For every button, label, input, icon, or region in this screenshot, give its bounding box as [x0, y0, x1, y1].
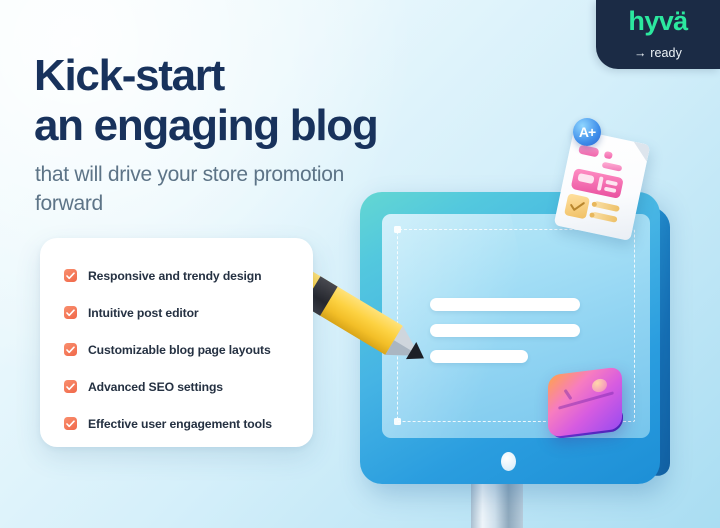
feature-label: Customizable blog page layouts	[88, 343, 271, 357]
feature-list-card: Responsive and trendy design Intuitive p…	[40, 238, 313, 447]
selection-handle	[394, 418, 401, 425]
list-item: Responsive and trendy design	[64, 259, 313, 292]
content-placeholder-bar	[430, 324, 580, 337]
a-plus-badge-icon: A+	[573, 118, 601, 146]
page-subtitle: that will drive your store promotion for…	[35, 161, 365, 219]
hyva-ready-badge: hyvä → ready	[596, 0, 720, 69]
image-icon	[548, 371, 626, 445]
monitor-stand-icon	[471, 478, 523, 528]
checkmark-icon	[64, 417, 77, 430]
list-item: Customizable blog page layouts	[64, 333, 313, 366]
promo-banner: hyvä → ready Kick-start an engaging blog…	[0, 0, 720, 528]
document-fold-corner	[630, 142, 650, 162]
doc-check-icon	[564, 193, 590, 219]
checkmark-icon	[64, 269, 77, 282]
doc-panel-detail	[577, 173, 594, 184]
page-title: Kick-start an engaging blog	[34, 51, 504, 150]
list-item: Intuitive post editor	[64, 296, 313, 329]
hyva-ready-tagline: → ready	[596, 46, 720, 60]
list-item: Effective user engagement tools	[64, 407, 313, 440]
checkmark-icon	[64, 343, 77, 356]
feature-label: Intuitive post editor	[88, 306, 199, 320]
headline-line-2: an engaging blog	[34, 101, 504, 150]
doc-gold-line	[591, 212, 618, 223]
doc-panel-detail	[597, 176, 604, 191]
doc-panel-detail	[605, 180, 618, 186]
doc-pink-block	[604, 151, 613, 160]
content-placeholder-bar	[430, 350, 528, 363]
doc-pink-panel	[571, 168, 624, 199]
feature-list: Responsive and trendy design Intuitive p…	[40, 238, 313, 440]
feature-label: Advanced SEO settings	[88, 380, 223, 394]
headline-line-1: Kick-start	[34, 51, 224, 100]
doc-gold-line	[593, 201, 620, 212]
doc-pink-block	[578, 145, 599, 158]
selection-handle	[394, 226, 401, 233]
feature-label: Effective user engagement tools	[88, 417, 272, 431]
content-placeholder-bar	[430, 298, 580, 311]
doc-pink-block	[602, 162, 623, 172]
doc-panel-detail	[604, 187, 617, 193]
list-item: Advanced SEO settings	[64, 370, 313, 403]
monitor-indicator-light	[501, 452, 516, 471]
checkmark-icon	[64, 380, 77, 393]
checkmark-icon	[64, 306, 77, 319]
feature-label: Responsive and trendy design	[88, 269, 261, 283]
hyva-logo-text: hyvä	[596, 8, 720, 35]
